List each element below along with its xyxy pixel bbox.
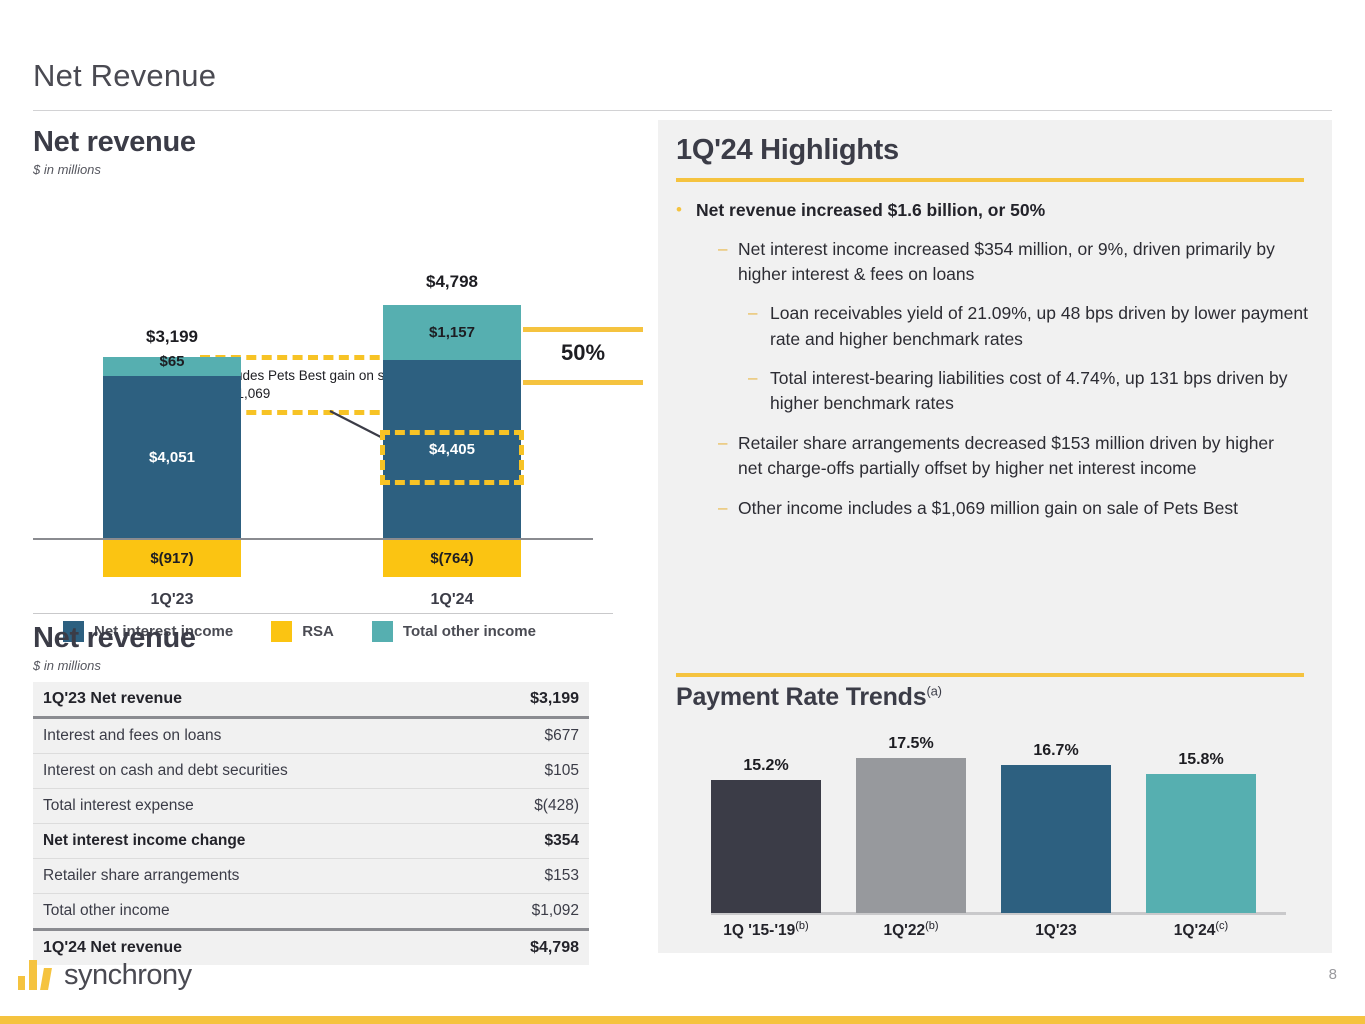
table-row: Net interest income change $354 <box>33 824 589 859</box>
growth-badge: 50% <box>523 327 643 385</box>
bar-segment-rsa-1q24: $(764) <box>383 540 521 577</box>
highlight-bullet-sub-3: – Other income includes a $1,069 million… <box>718 496 1316 521</box>
net-revenue-chart-units: $ in millions <box>33 162 623 177</box>
prt-rect-1q15-19 <box>711 780 821 913</box>
legend-item-rsa: RSA <box>271 621 334 642</box>
table-cell-label: Interest on cash and debt securities <box>33 754 474 789</box>
table-cell-label: 1Q'23 Net revenue <box>33 682 474 718</box>
page-title: Net Revenue <box>33 58 216 94</box>
prt-category-1q15-19-text: 1Q '15-'19 <box>723 922 795 939</box>
highlight-bullet-sub-3-text: Other income includes a $1,069 million g… <box>738 496 1238 521</box>
bar-label-net-interest-income-1q23: $4,051 <box>149 449 195 466</box>
table-row: Interest and fees on loans $677 <box>33 718 589 754</box>
net-revenue-table-title: Net revenue <box>33 622 196 655</box>
prt-value-1q15-19: 15.2% <box>711 757 821 775</box>
highlight-bullet-sub-1b: – Total interest-bearing liabilities cos… <box>748 366 1316 417</box>
table-cell-value: $4,798 <box>474 930 589 966</box>
net-revenue-chart-title: Net revenue <box>33 126 623 159</box>
table-cell-value: $105 <box>474 754 589 789</box>
prt-rect-1q23 <box>1001 765 1111 913</box>
bar-label-rsa-1q24: $(764) <box>430 550 473 567</box>
table-row: Interest on cash and debt securities $10… <box>33 754 589 789</box>
highlights-rule <box>676 178 1304 182</box>
total-label-1q24: $4,798 <box>383 272 521 292</box>
prt-category-1q15-19: 1Q '15-'19(b) <box>691 920 841 940</box>
highlight-bullet-sub-1b-text: Total interest-bearing liabilities cost … <box>770 366 1310 417</box>
category-label-1q24: 1Q'24 <box>383 591 521 609</box>
highlights-list: • Net revenue increased $1.6 billion, or… <box>676 198 1316 521</box>
table-row: Total other income $1,092 <box>33 894 589 930</box>
table-cell-value: $3,199 <box>474 682 589 718</box>
prt-category-1q23: 1Q'23 <box>981 920 1131 940</box>
table-cell-value: $153 <box>474 859 589 894</box>
total-label-1q23: $3,199 <box>103 327 241 347</box>
prt-value-1q22: 17.5% <box>856 735 966 753</box>
header-divider <box>33 110 1332 111</box>
net-revenue-table-heading: Net revenue $ in millions <box>33 622 196 673</box>
highlight-bullet-sub-2: – Retailer share arrangements decreased … <box>718 431 1316 482</box>
badge-rule-top <box>523 327 643 332</box>
net-revenue-stacked-bar-chart: 50% Includes Pets Best gain on sale of $… <box>33 177 623 647</box>
prt-category-1q22-footnote: (b) <box>925 920 938 932</box>
payment-rate-trends-chart: 15.2% 1Q '15-'19(b) 17.5% 1Q'22(b) 16.7%… <box>696 732 1296 937</box>
table-row: Retailer share arrangements $153 <box>33 859 589 894</box>
payment-rate-trends-title-text: Payment Rate Trends <box>676 683 926 711</box>
bar-label-rsa-1q23: $(917) <box>150 550 193 567</box>
footer-accent-bar <box>0 1016 1365 1024</box>
bar-label-other-income-1q24: $1,157 <box>429 324 475 341</box>
bullet-dash-icon: – <box>748 301 770 352</box>
highlight-bullet-sub-1a: – Loan receivables yield of 21.09%, up 4… <box>748 301 1316 352</box>
highlight-bullet-sub-1a-text: Loan receivables yield of 21.09%, up 48 … <box>770 301 1310 352</box>
table-row: 1Q'23 Net revenue $3,199 <box>33 682 589 718</box>
prt-category-1q22-text: 1Q'22 <box>883 922 925 939</box>
net-revenue-chart-heading: Net revenue $ in millions <box>33 126 623 177</box>
table-cell-label: Total other income <box>33 894 474 930</box>
other-income-highlight-box <box>380 430 524 485</box>
prt-category-1q22: 1Q'22(b) <box>836 920 986 940</box>
prt-category-1q24-text: 1Q'24 <box>1174 922 1216 939</box>
prt-rect-1q24 <box>1146 774 1256 913</box>
payment-rate-trends-title: Payment Rate Trends(a) <box>676 683 942 712</box>
prt-category-1q24-footnote: (c) <box>1215 920 1228 932</box>
legend-item-total-other-income: Total other income <box>372 621 536 642</box>
brand-logo: synchrony <box>18 958 192 990</box>
section-divider <box>33 613 613 614</box>
table-cell-label: Retailer share arrangements <box>33 859 474 894</box>
bullet-dot-icon: • <box>676 198 696 223</box>
table-cell-label: Total interest expense <box>33 789 474 824</box>
payment-rate-trends-footnote: (a) <box>926 684 941 699</box>
prt-value-1q24: 15.8% <box>1146 751 1256 769</box>
table-cell-value: $677 <box>474 718 589 754</box>
badge-rule-bottom <box>523 380 643 385</box>
highlights-title: 1Q'24 Highlights <box>676 134 899 167</box>
legend-label-total-other-income: Total other income <box>403 623 536 640</box>
prt-category-1q24: 1Q'24(c) <box>1126 920 1276 940</box>
bullet-dash-icon: – <box>718 431 738 482</box>
net-revenue-table-units: $ in millions <box>33 658 196 673</box>
growth-badge-value: 50% <box>523 340 643 366</box>
bar-segment-rsa-1q23: $(917) <box>103 540 241 577</box>
bar-segment-net-interest-income-1q23: $4,051 <box>103 376 241 538</box>
bar-label-other-income-1q23: $65 <box>103 353 241 370</box>
brand-name: synchrony <box>64 961 192 990</box>
net-revenue-table: 1Q'23 Net revenue $3,199 Interest and fe… <box>33 682 589 965</box>
page-number: 8 <box>1329 966 1337 983</box>
prt-category-1q15-19-footnote: (b) <box>795 920 808 932</box>
table-cell-value: $1,092 <box>474 894 589 930</box>
highlight-bullet-sub-1: – Net interest income increased $354 mil… <box>718 237 1316 288</box>
table-cell-value: $354 <box>474 824 589 859</box>
bar-segment-other-income-1q24: $1,157 <box>383 305 521 360</box>
prt-value-1q23: 16.7% <box>1001 742 1111 760</box>
synchrony-logo-icon <box>18 958 56 990</box>
legend-swatch-total-other-income <box>372 621 393 642</box>
net-revenue-table-body: 1Q'23 Net revenue $3,199 Interest and fe… <box>33 682 589 965</box>
highlight-bullet-sub-2-text: Retailer share arrangements decreased $1… <box>738 431 1298 482</box>
highlight-bullet-sub-1-text: Net interest income increased $354 milli… <box>738 237 1298 288</box>
highlights-panel: 1Q'24 Highlights • Net revenue increased… <box>658 120 1332 953</box>
prt-rect-1q22 <box>856 758 966 913</box>
highlight-bullet-primary-text: Net revenue increased $1.6 billion, or 5… <box>696 198 1045 223</box>
legend-swatch-rsa <box>271 621 292 642</box>
table-cell-label: Interest and fees on loans <box>33 718 474 754</box>
table-cell-label: Net interest income change <box>33 824 474 859</box>
table-row: Total interest expense $(428) <box>33 789 589 824</box>
bullet-dash-icon: – <box>718 237 738 288</box>
payment-rate-trends-rule <box>676 673 1304 677</box>
legend-label-rsa: RSA <box>302 623 334 640</box>
prt-category-1q23-text: 1Q'23 <box>1035 922 1077 939</box>
table-cell-value: $(428) <box>474 789 589 824</box>
category-label-1q23: 1Q'23 <box>103 591 241 609</box>
highlight-bullet-primary: • Net revenue increased $1.6 billion, or… <box>676 198 1316 223</box>
bullet-dash-icon: – <box>718 496 738 521</box>
bullet-dash-icon: – <box>748 366 770 417</box>
